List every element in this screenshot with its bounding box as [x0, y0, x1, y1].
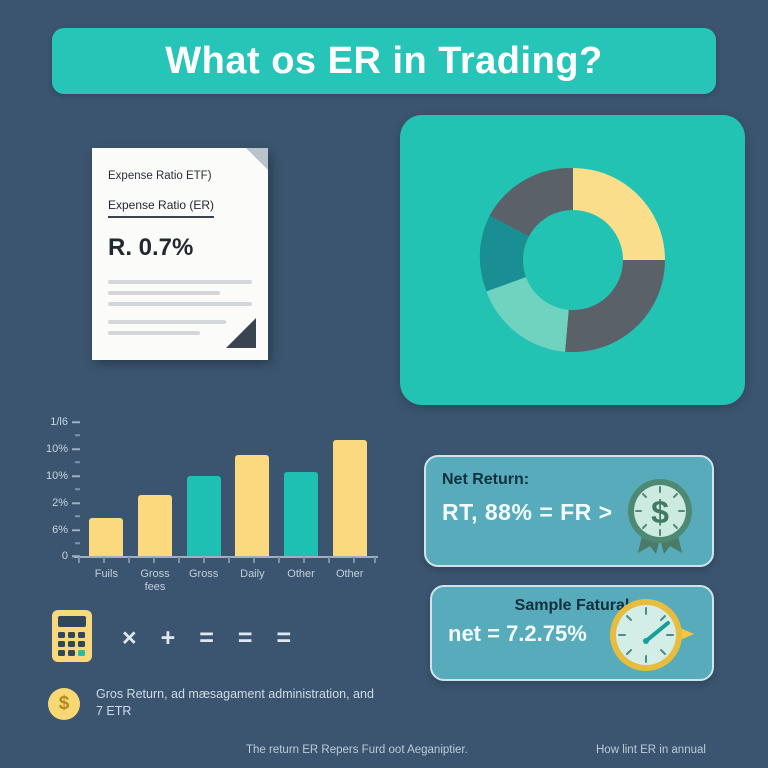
page-corner-icon	[226, 318, 256, 348]
bar-4	[284, 472, 318, 556]
x-tick-label: Other	[325, 568, 374, 594]
infographic-canvas: What os ER in Trading? Expense Ratio ETF…	[0, 0, 768, 768]
operator-plus: +	[161, 624, 176, 653]
document-subheading: Expense Ratio (ER)	[108, 198, 214, 218]
caption-right: How lint ER in annual	[596, 744, 706, 756]
calculator-row: × + = = =	[50, 608, 291, 669]
dollar-coin-icon: $	[48, 688, 80, 720]
x-tick-label: Fuils	[82, 568, 131, 594]
y-tick-label: 2%	[52, 497, 68, 509]
donut-chart-svg	[465, 152, 681, 368]
dollar-badge-icon: $	[622, 475, 698, 562]
donut-chart	[465, 152, 681, 368]
caption-left: The return ER Repers Furd oot Aeganiptie…	[246, 744, 468, 756]
bar-2	[187, 476, 221, 556]
page-title: What os ER in Trading?	[165, 40, 602, 83]
expense-bar-chart: 1/l6 10% 10% 2% 6% 0	[22, 418, 382, 593]
bar-chart-x-labels: Fuils Gross fees Gross Daily Other Other	[82, 568, 374, 594]
footnote-row: $ Gros Return, ad mæsagament administrat…	[48, 686, 378, 720]
operator-equals-3: =	[276, 624, 291, 653]
donut-chart-panel	[400, 115, 745, 405]
document-value: R. 0.7%	[108, 234, 252, 262]
x-tick-label: Daily	[228, 568, 277, 594]
y-tick-label: 1/l6	[50, 416, 68, 428]
footnote-text: Gros Return, ad mæsagament administratio…	[96, 686, 378, 720]
operator-equals-2: =	[238, 624, 253, 653]
title-banner: What os ER in Trading?	[52, 28, 716, 94]
x-tick-label: Gross	[179, 568, 228, 594]
bar-chart-y-axis: 1/l6 10% 10% 2% 6% 0	[22, 418, 68, 556]
document-heading: Expense Ratio ETF)	[108, 170, 252, 182]
operator-multiply: ×	[122, 624, 137, 653]
bar-chart-x-ticks	[74, 557, 378, 563]
y-tick-label: 6%	[52, 524, 68, 536]
y-tick-label: 10%	[46, 470, 68, 482]
bar-1	[138, 495, 172, 556]
operator-equals-1: =	[199, 624, 214, 653]
sample-factual-card: Sample Fatural net = 7.2.75%	[430, 585, 714, 681]
svg-text:$: $	[651, 494, 669, 530]
bar-chart-plot-area	[82, 418, 374, 556]
expense-ratio-document-card: Expense Ratio ETF) Expense Ratio (ER) R.…	[92, 148, 268, 360]
calculator-icon	[50, 608, 94, 669]
page-fold-icon	[246, 148, 268, 170]
bar-0	[89, 518, 123, 556]
operator-list: × + = = =	[122, 624, 291, 653]
y-tick-label: 10%	[46, 443, 68, 455]
bar-5	[333, 440, 367, 556]
x-tick-label: Other	[277, 568, 326, 594]
net-return-card: Net Return: RT, 88% = FR > $	[424, 455, 714, 567]
bar-3	[235, 455, 269, 556]
y-tick-label: 0	[62, 550, 68, 562]
x-tick-label: Gross fees	[131, 568, 180, 594]
donut-hole	[523, 210, 623, 310]
gauge-clock-icon	[606, 595, 698, 680]
